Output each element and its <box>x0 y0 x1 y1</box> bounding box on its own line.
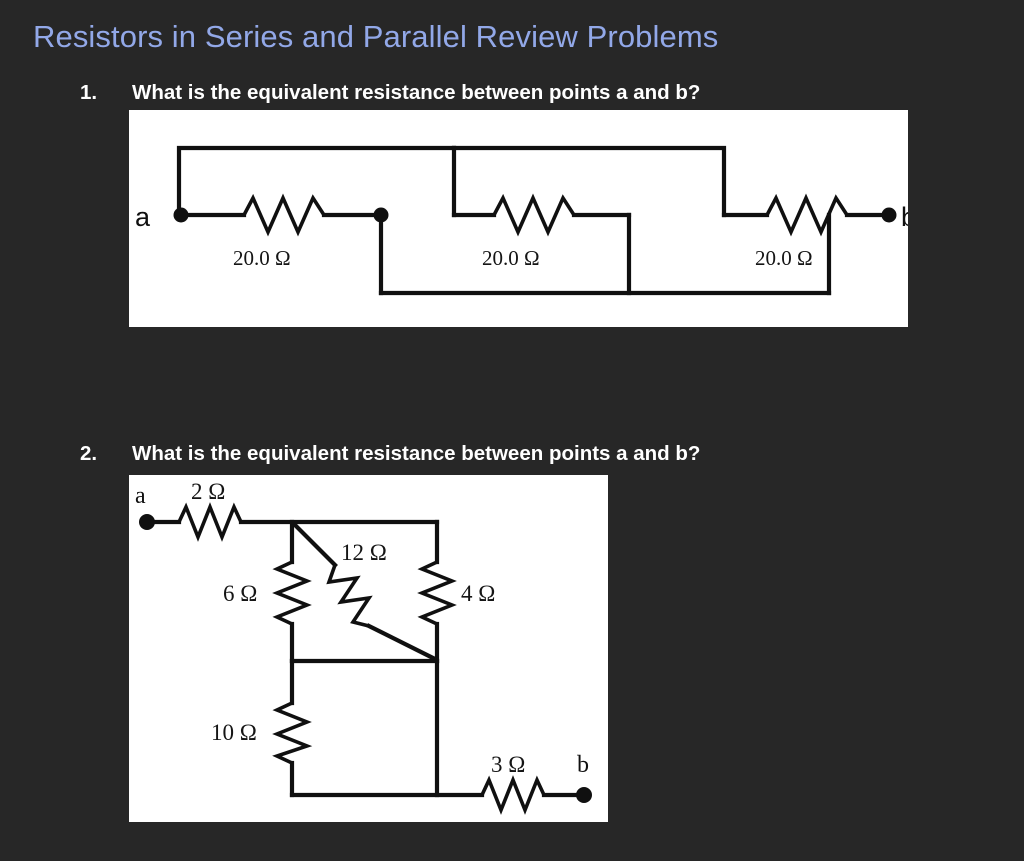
circuit-diagram-2: a b 2 Ω 6 Ω 12 Ω 4 Ω 10 Ω 3 Ω <box>129 475 608 822</box>
resistor-label-3ohm: 3 Ω <box>491 752 525 777</box>
terminal-a-dot-2 <box>139 514 155 530</box>
terminal-label-a: a <box>135 202 151 232</box>
question-item-1: 1. What is the equivalent resistance bet… <box>80 80 700 106</box>
resistor-2ohm-symbol <box>179 507 241 537</box>
resistor-6ohm-symbol <box>277 562 307 624</box>
terminal-a-dot <box>174 208 189 223</box>
question-2-text: What is the equivalent resistance betwee… <box>132 441 700 467</box>
question-1-text: What is the equivalent resistance betwee… <box>132 80 700 106</box>
resistor-label-6ohm: 6 Ω <box>223 581 257 606</box>
circuit-1-svg: a b 20.0 Ω 20.0 Ω 20.0 Ω <box>129 110 908 327</box>
circuit-diagram-1: a b 20.0 Ω 20.0 Ω 20.0 Ω <box>129 110 908 327</box>
resistor-10ohm-symbol <box>277 703 307 763</box>
circuit-2-svg: a b 2 Ω 6 Ω 12 Ω 4 Ω 10 Ω 3 Ω <box>129 475 608 822</box>
wire-top-right-bypass <box>454 148 724 215</box>
resistor-label-12ohm: 12 Ω <box>341 540 387 565</box>
resistor-r3-symbol <box>767 198 847 232</box>
terminal-label-b: b <box>901 202 908 232</box>
question-1-number: 1. <box>80 80 132 106</box>
question-2-number: 2. <box>80 441 132 467</box>
terminal-label-b-2: b <box>577 752 589 778</box>
resistor-label-2ohm: 2 Ω <box>191 479 225 504</box>
resistor-label-10ohm: 10 Ω <box>211 720 257 745</box>
resistor-r1-symbol <box>244 198 324 232</box>
page-title: Resistors in Series and Parallel Review … <box>33 18 718 56</box>
resistor-label-r1: 20.0 Ω <box>233 246 291 270</box>
resistor-4ohm-symbol <box>422 562 452 624</box>
wire-12ohm-lower-lead <box>369 626 435 659</box>
resistor-label-4ohm: 4 Ω <box>461 581 495 606</box>
slide-canvas: Resistors in Series and Parallel Review … <box>0 0 1024 861</box>
wire-12ohm-upper-lead <box>294 524 335 565</box>
question-item-2: 2. What is the equivalent resistance bet… <box>80 441 700 467</box>
resistor-label-r2: 20.0 Ω <box>482 246 540 270</box>
terminal-b-dot <box>882 208 897 223</box>
terminal-b-dot-2 <box>576 787 592 803</box>
resistor-3ohm-symbol <box>482 780 544 810</box>
resistor-12ohm-symbol <box>329 565 369 626</box>
junction-node-dot <box>374 208 389 223</box>
resistor-label-r3: 20.0 Ω <box>755 246 813 270</box>
terminal-label-a-2: a <box>135 483 146 509</box>
resistor-r2-symbol <box>494 198 574 232</box>
